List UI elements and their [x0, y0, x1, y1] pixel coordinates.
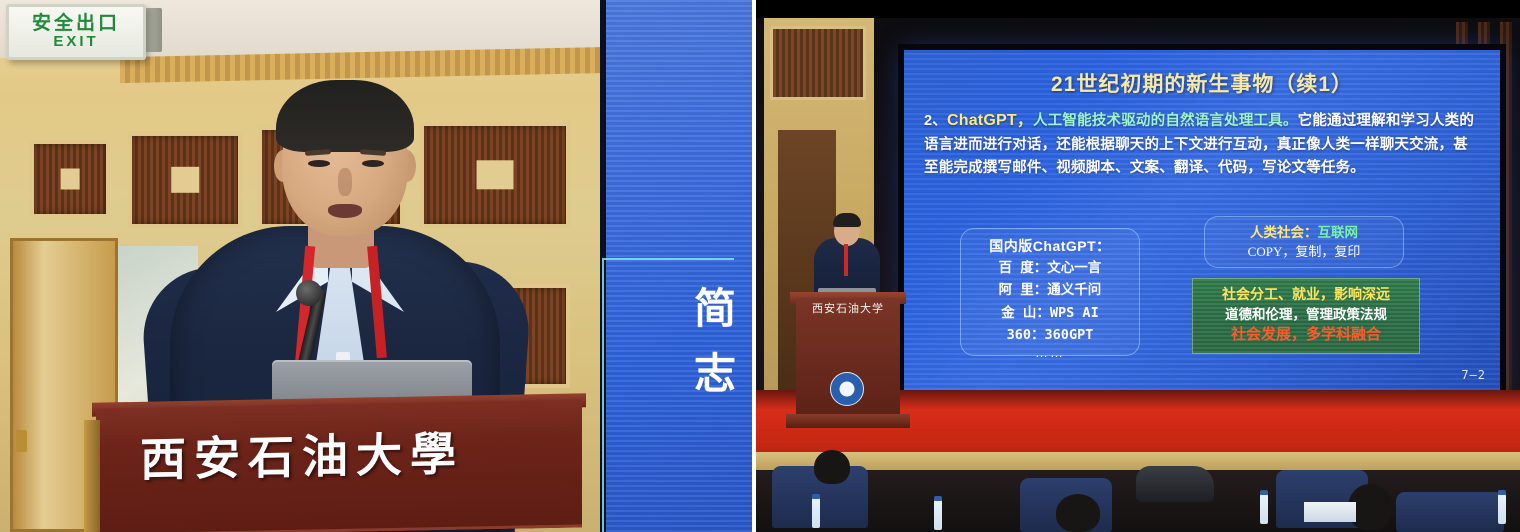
wall-panel: [128, 132, 242, 228]
speaker-eye-left: [308, 160, 330, 167]
water-bottle: [934, 500, 942, 530]
exit-sign: 安全出口 EXIT: [6, 4, 146, 60]
screen-char-2: 志: [694, 341, 752, 406]
wall-panel: [770, 26, 866, 100]
exit-sign-english: EXIT: [53, 33, 98, 51]
audience-chair: [1396, 492, 1504, 532]
podium-base-far: [786, 414, 910, 428]
wall-panel: [30, 140, 110, 218]
audience-head: [814, 450, 850, 484]
speaker-mouth: [328, 204, 362, 218]
wall-panel: [420, 122, 570, 228]
left-photo-speaker-closeup: 安全出口 EXIT 简 志 西: [0, 0, 752, 532]
handout-paper: [1304, 502, 1356, 522]
bottle-cap: [934, 496, 942, 501]
speaker-eye-right: [362, 160, 384, 167]
water-bottle: [1260, 494, 1268, 524]
two-panel-photo-composite: 安全出口 EXIT 简 志 西: [0, 0, 1520, 532]
exit-sign-chinese: 安全出口: [32, 14, 120, 33]
door-handle: [16, 430, 27, 452]
screen-bezel: [898, 44, 1506, 396]
podium-university-name-far: 西安石油大学: [800, 300, 896, 316]
podium-university-name: 西安石油大學: [140, 416, 540, 490]
bottle-cap: [1498, 490, 1506, 495]
water-bottle: [1498, 494, 1506, 524]
bottle-cap: [1260, 490, 1268, 495]
water-bottle: [812, 498, 820, 528]
backpack: [1136, 466, 1214, 502]
speaker-hair: [276, 80, 414, 152]
screen-partial-characters: 简 志: [694, 276, 752, 406]
ceiling-dark: [756, 0, 1520, 18]
bottle-cap: [812, 494, 820, 499]
screen-char-1: 简: [694, 276, 752, 341]
university-emblem: [830, 372, 864, 406]
microphone-head: [296, 280, 322, 306]
audience-head: [1056, 494, 1100, 532]
right-photo-auditorium: 21世纪初期的新生事物（续1） 2、ChatGPT，人工智能技术驱动的自然语言处…: [756, 0, 1520, 532]
speaker-nose: [338, 168, 352, 196]
podium-far: [796, 298, 900, 426]
speaker-lanyard-far: [844, 244, 848, 276]
podium-side-panel: [84, 420, 100, 532]
speaker-hair-far: [833, 213, 861, 227]
